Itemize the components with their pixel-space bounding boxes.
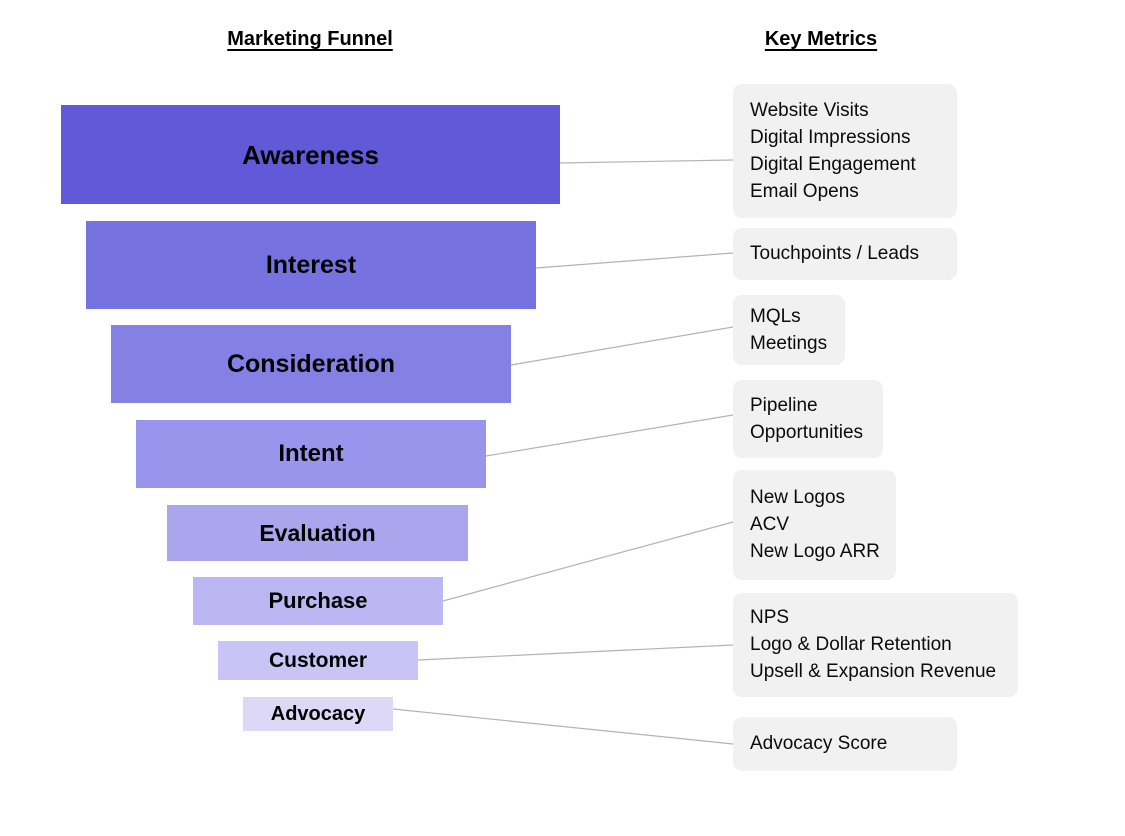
funnel-stage-interest[interactable]: Interest (86, 221, 536, 309)
funnel-column-title: Marketing Funnel (227, 28, 393, 51)
funnel-stage-customer[interactable]: Customer (218, 641, 418, 680)
funnel-stage-awareness[interactable]: Awareness (61, 105, 560, 204)
metric-box-interest[interactable]: Touchpoints / Leads (733, 228, 957, 280)
connector-line-advocacy (393, 709, 733, 744)
metrics-column-title: Key Metrics (765, 28, 877, 51)
metric-line: Email Opens (750, 178, 940, 205)
funnel-stage-label: Advocacy (271, 704, 366, 724)
metric-box-advocacy[interactable]: Advocacy Score (733, 717, 957, 771)
funnel-stage-advocacy[interactable]: Advocacy (243, 697, 393, 731)
connector-line-purchase (443, 522, 733, 601)
funnel-stage-label: Awareness (242, 142, 379, 168)
metric-box-evaluation[interactable]: New LogosACVNew Logo ARR (733, 470, 896, 580)
metric-line: Pipeline (750, 392, 866, 419)
connector-line-consideration (511, 327, 733, 365)
funnel-stage-label: Interest (266, 253, 356, 278)
metric-line: Website Visits (750, 97, 940, 124)
metric-line: New Logo ARR (750, 538, 879, 565)
connector-line-awareness (560, 160, 733, 163)
funnel-stage-label: Consideration (227, 352, 395, 377)
metric-box-intent[interactable]: PipelineOpportunities (733, 380, 883, 458)
metric-box-customer[interactable]: NPSLogo & Dollar RetentionUpsell & Expan… (733, 593, 1018, 697)
funnel-stage-evaluation[interactable]: Evaluation (167, 505, 468, 561)
metric-line: MQLs (750, 303, 828, 330)
metric-line: Digital Engagement (750, 151, 940, 178)
funnel-stage-consideration[interactable]: Consideration (111, 325, 511, 403)
metric-line: Logo & Dollar Retention (750, 631, 1001, 658)
metric-line: Advocacy Score (750, 730, 940, 757)
metric-line: New Logos (750, 484, 879, 511)
metric-line: Touchpoints / Leads (750, 240, 940, 267)
diagram-canvas: Marketing Funnel Key Metrics AwarenessIn… (0, 0, 1125, 836)
metric-line: Upsell & Expansion Revenue (750, 658, 1001, 685)
connector-line-customer (418, 645, 733, 660)
metric-box-consideration[interactable]: MQLsMeetings (733, 295, 845, 365)
funnel-stage-purchase[interactable]: Purchase (193, 577, 443, 625)
funnel-stage-intent[interactable]: Intent (136, 420, 486, 488)
metric-line: Meetings (750, 330, 828, 357)
funnel-stage-label: Evaluation (259, 522, 375, 545)
funnel-stage-label: Purchase (268, 590, 367, 612)
metric-line: Digital Impressions (750, 124, 940, 151)
funnel-stage-label: Customer (269, 650, 367, 671)
metric-line: ACV (750, 511, 879, 538)
funnel-stage-label: Intent (278, 442, 343, 466)
metric-line: NPS (750, 604, 1001, 631)
connector-line-interest (536, 253, 733, 268)
connector-line-intent (486, 415, 733, 456)
metric-box-awareness[interactable]: Website VisitsDigital ImpressionsDigital… (733, 84, 957, 218)
metric-line: Opportunities (750, 419, 866, 446)
